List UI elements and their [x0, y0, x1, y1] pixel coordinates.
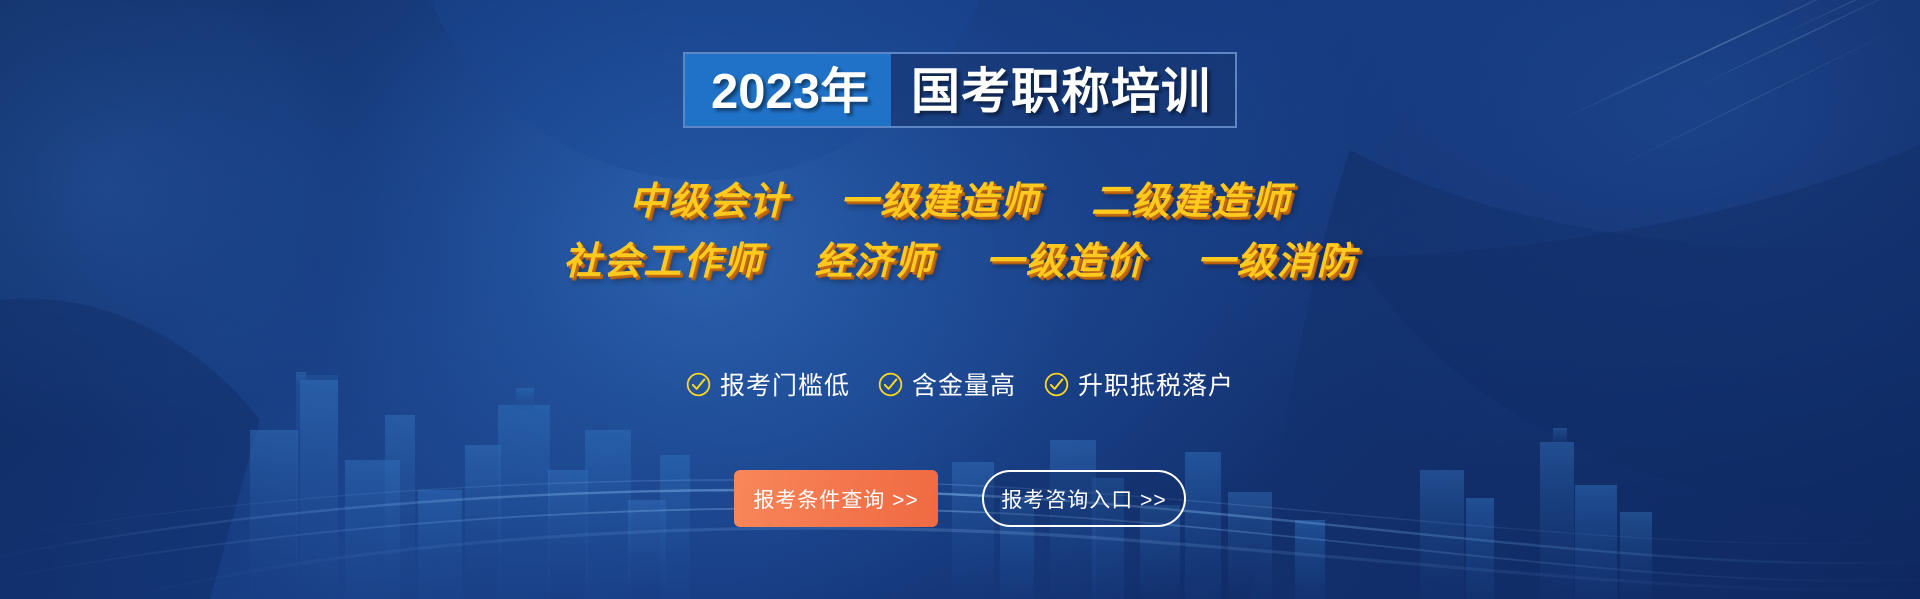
feature-item: 含金量高	[878, 366, 1016, 402]
title-main-text: 国考职称培训	[891, 54, 1235, 126]
title-year-badge: 2023年	[685, 54, 891, 126]
cta-row: 报考条件查询 >> 报考咨询入口 >>	[0, 470, 1920, 527]
course-item: 社会工作师	[563, 241, 763, 283]
feature-label: 含金量高	[912, 366, 1016, 402]
title-frame: 2023年 国考职称培训	[683, 52, 1237, 128]
bg-circle-small-left	[35, 240, 675, 599]
course-item: 中级会计	[629, 181, 789, 223]
course-item: 经济师	[814, 241, 934, 283]
promo-banner: 2023年 国考职称培训 中级会计 一级建造师 二级建造师 社会工作师 经济师 …	[0, 0, 1920, 599]
consultation-entry-button[interactable]: 报考咨询入口 >>	[982, 470, 1186, 527]
feature-label: 升职抵税落户	[1078, 366, 1234, 402]
bg-wedge-left	[0, 299, 260, 599]
course-item: 一级消防	[1197, 241, 1357, 283]
feature-item: 升职抵税落户	[1044, 366, 1234, 402]
course-item: 二级建造师	[1091, 181, 1291, 223]
check-circle-icon	[1044, 372, 1069, 397]
course-item: 一级造价	[986, 241, 1146, 283]
feature-label: 报考门槛低	[720, 366, 850, 402]
course-line-2: 社会工作师 经济师 一级造价 一级消防	[0, 232, 1920, 292]
check-circle-icon	[686, 372, 711, 397]
course-item: 一级建造师	[840, 181, 1040, 223]
eligibility-query-button[interactable]: 报考条件查询 >>	[734, 470, 938, 527]
course-list: 中级会计 一级建造师 二级建造师 社会工作师 经济师 一级造价 一级消防	[0, 172, 1920, 292]
check-circle-icon	[878, 372, 903, 397]
feature-list: 报考门槛低 含金量高 升职抵税落户	[0, 366, 1920, 402]
course-line-1: 中级会计 一级建造师 二级建造师	[0, 172, 1920, 232]
feature-item: 报考门槛低	[686, 366, 850, 402]
banner-title: 2023年 国考职称培训	[0, 52, 1920, 128]
